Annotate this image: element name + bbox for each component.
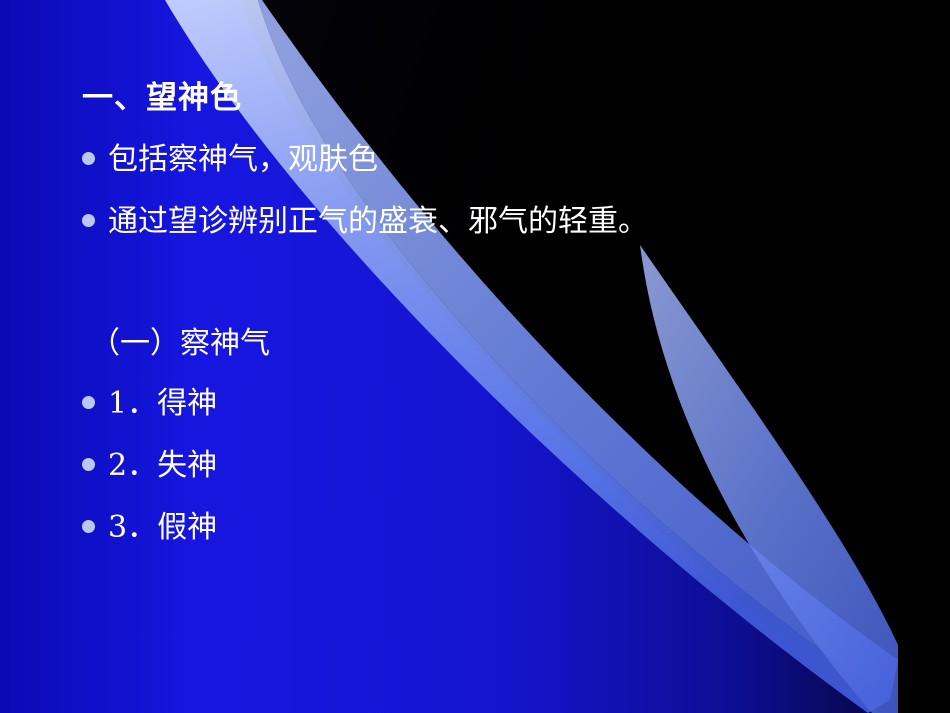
bullet-dot-icon (82, 396, 95, 409)
bullet-dot-icon (82, 520, 95, 533)
list-item-label: 3．假神 (108, 502, 217, 546)
list-item-label: 1．得神 (108, 378, 217, 422)
presentation-slide: 一、望神色 包括察神气，观肤色 通过望诊辨别正气的盛衰、邪气的轻重。 （一）察神… (0, 0, 950, 713)
list-item: 包括察神气，观肤色 (82, 134, 378, 178)
bullet-dot-icon (82, 458, 95, 471)
list-item-label: 包括察神气，观肤色 (108, 134, 378, 178)
bullet-dot-icon (82, 152, 95, 165)
list-item-label: 通过望诊辨别正气的盛衰、邪气的轻重。 (108, 196, 648, 240)
bullet-dot-icon (82, 214, 95, 227)
list-item: 2．失神 (82, 440, 217, 484)
list-item-label: 2．失神 (108, 440, 217, 484)
page-title: 一、望神色 (82, 72, 242, 117)
list-item: 1．得神 (82, 378, 217, 422)
subheading: （一）察神气 (90, 318, 270, 362)
list-item: 通过望诊辨别正气的盛衰、邪气的轻重。 (82, 196, 648, 240)
list-item: 3．假神 (82, 502, 217, 546)
slide-content: 一、望神色 包括察神气，观肤色 通过望诊辨别正气的盛衰、邪气的轻重。 （一）察神… (0, 0, 950, 713)
